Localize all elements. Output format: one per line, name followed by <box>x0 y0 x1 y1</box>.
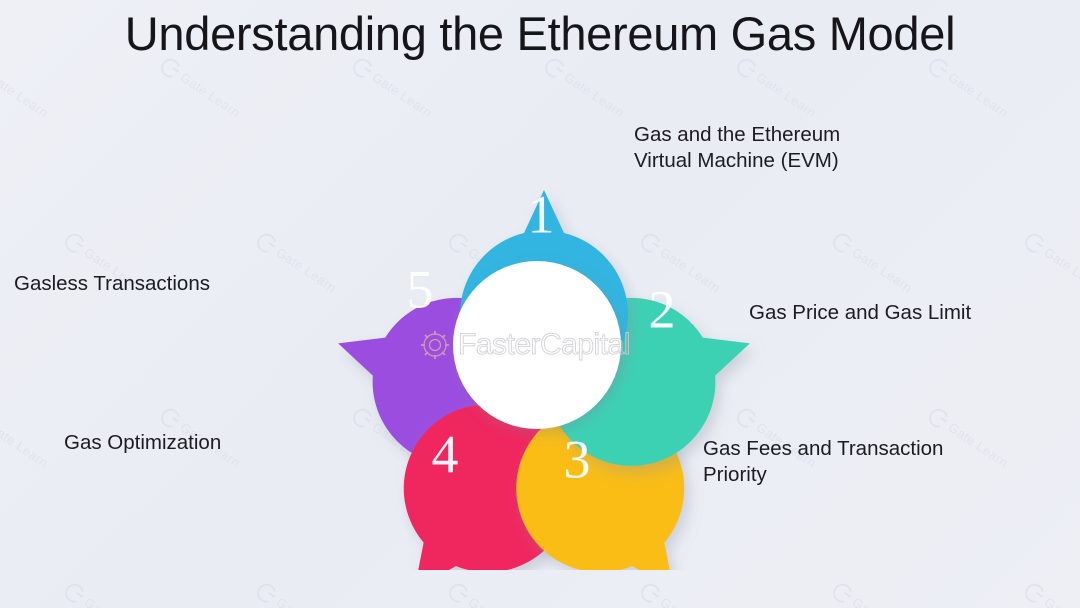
petal-diagram: 1 2 3 4 5 <box>310 120 770 570</box>
gate-learn-watermark-text: Gate Learn <box>1042 245 1080 296</box>
gate-learn-watermark: Gate Learn <box>809 230 940 344</box>
gate-learn-watermark: Gate Learn <box>1001 580 1080 608</box>
gate-logo-icon <box>637 580 663 606</box>
gate-logo-icon <box>925 405 951 431</box>
gate-learn-watermark-text: Gate Learn <box>1042 595 1080 608</box>
gate-learn-watermark-text: Gate Learn <box>82 595 148 608</box>
gate-learn-watermark: Gate Learn <box>0 55 75 169</box>
gate-learn-watermark-text: Gate Learn <box>370 70 436 121</box>
gate-learn-watermark-text: Gate Learn <box>850 245 916 296</box>
gate-learn-watermark-text: Gate Learn <box>274 595 340 608</box>
gate-logo-icon <box>829 230 855 256</box>
center-hub[interactable] <box>453 261 621 429</box>
gate-learn-watermark-text: Gate Learn <box>178 70 244 121</box>
gate-learn-watermark-text: Gate Learn <box>562 70 628 121</box>
gate-logo-icon <box>61 230 87 256</box>
petal-number-1: 1 <box>528 184 555 244</box>
gate-learn-watermark-text: Gate Learn <box>850 595 916 608</box>
gate-learn-watermark: Gate Learn <box>41 580 172 608</box>
gate-logo-icon <box>253 230 279 256</box>
callout-label-1: Gas and the Ethereum Virtual Machine (EV… <box>634 122 934 174</box>
gate-logo-icon <box>445 580 471 606</box>
gate-learn-watermark: Gate Learn <box>1001 230 1080 344</box>
gate-learn-watermark-text: Gate Learn <box>466 595 532 608</box>
gate-learn-watermark-text: Gate Learn <box>658 595 724 608</box>
gate-learn-watermark: Gate Learn <box>233 580 364 608</box>
gate-learn-watermark: Gate Learn <box>425 580 556 608</box>
petal-number-5: 5 <box>407 259 434 319</box>
gate-learn-watermark-text: Gate Learn <box>0 420 51 471</box>
gate-logo-icon <box>157 405 183 431</box>
petal-number-3: 3 <box>564 429 591 489</box>
gate-learn-watermark: Gate Learn <box>137 55 268 169</box>
callout-label-5: Gasless Transactions <box>14 271 314 297</box>
gate-logo-icon <box>61 580 87 606</box>
callout-label-2: Gas Price and Gas Limit <box>749 300 1049 326</box>
gate-learn-watermark: Gate Learn <box>0 405 75 519</box>
petal-number-2: 2 <box>649 279 676 339</box>
gate-learn-watermark: Gate Learn <box>617 580 748 608</box>
gate-learn-watermark-text: Gate Learn <box>0 70 51 121</box>
gate-learn-watermark: Gate Learn <box>809 580 940 608</box>
gate-logo-icon <box>253 580 279 606</box>
gate-logo-icon <box>829 580 855 606</box>
callout-label-4: Gas Optimization <box>64 430 344 456</box>
gate-learn-watermark-text: Gate Learn <box>754 70 820 121</box>
page-title: Understanding the Ethereum Gas Model <box>0 6 1080 61</box>
gate-learn-watermark: Gate Learn <box>137 405 268 519</box>
infographic-slide: Gate LearnGate LearnGate LearnGate Learn… <box>0 0 1080 608</box>
petal-number-4: 4 <box>432 424 459 484</box>
gate-logo-icon <box>1021 230 1047 256</box>
gate-learn-watermark-text: Gate Learn <box>946 70 1012 121</box>
callout-label-3: Gas Fees and Transaction Priority <box>703 436 993 488</box>
gate-logo-icon <box>1021 580 1047 606</box>
